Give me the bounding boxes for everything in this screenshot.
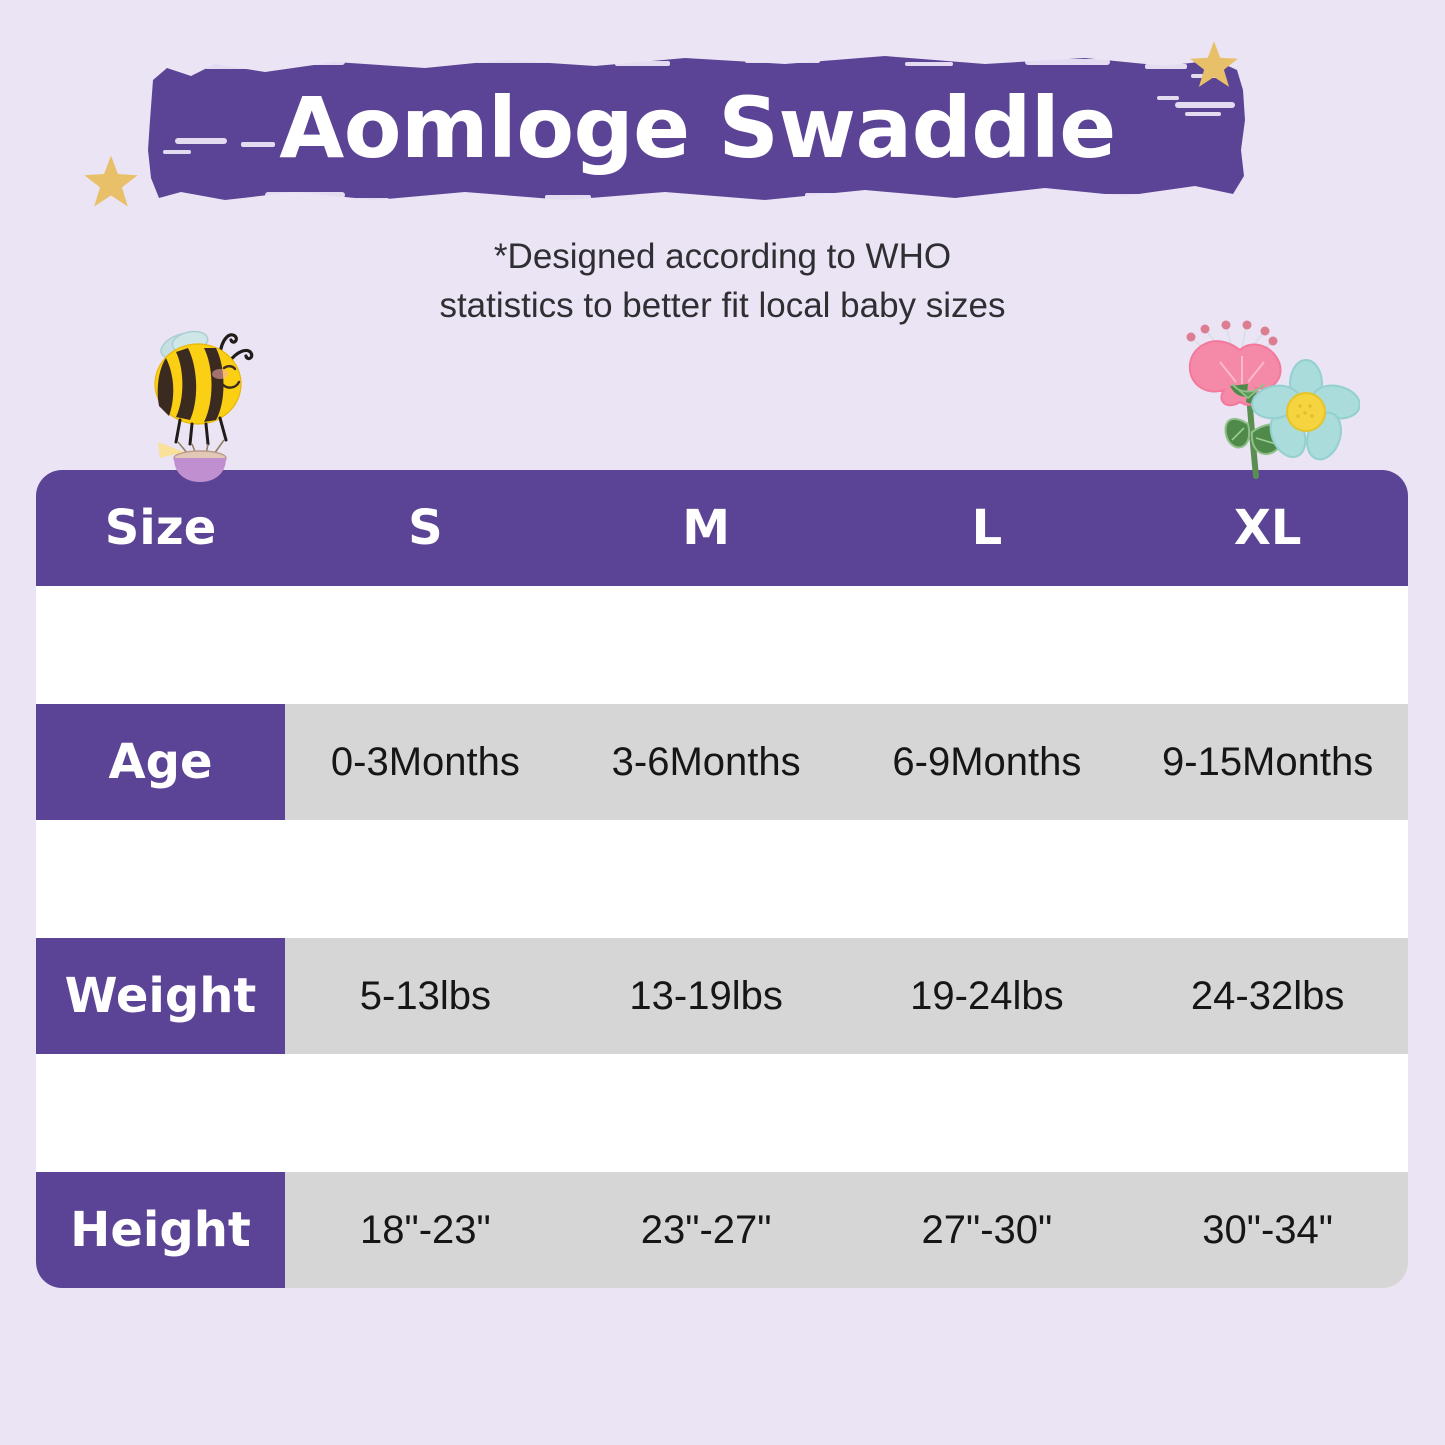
header-cell-size: Size — [36, 470, 285, 586]
cell-age-l: 6-9Months — [847, 704, 1128, 820]
cell-weight-l: 19-24lbs — [847, 938, 1128, 1054]
header-cell-xl: XL — [1127, 470, 1408, 586]
title-banner: Aomloge Swaddle — [145, 50, 1250, 210]
height-values-group: 18"-23" 23"-27" 27"-30" 30"-34" — [285, 1172, 1408, 1288]
cell-age-m: 3-6Months — [566, 704, 847, 820]
size-chart-table: Size S M L XL Age 0-3Months 3-6Months 6-… — [36, 470, 1408, 1294]
star-icon — [82, 152, 140, 210]
cell-height-l: 27"-30" — [847, 1172, 1128, 1288]
cell-weight-s: 5-13lbs — [285, 938, 566, 1054]
cell-age-xl: 9-15Months — [1127, 704, 1408, 820]
cell-weight-xl: 24-32lbs — [1127, 938, 1408, 1054]
row-label-height: Height — [36, 1172, 285, 1288]
subtitle-line-1: *Designed according to WHO — [0, 232, 1445, 281]
cell-height-xl: 30"-34" — [1127, 1172, 1408, 1288]
header-cell-l: L — [847, 470, 1128, 586]
table-row: Age 0-3Months 3-6Months 6-9Months 9-15Mo… — [36, 704, 1408, 820]
cell-height-s: 18"-23" — [285, 1172, 566, 1288]
row-label-weight: Weight — [36, 938, 285, 1054]
table-spacer-row — [36, 820, 1408, 938]
table-row: Weight 5-13lbs 13-19lbs 19-24lbs 24-32lb… — [36, 938, 1408, 1054]
size-chart-page: Aomloge Swaddle *Designed according to W… — [0, 0, 1445, 1445]
flower-icon — [1148, 306, 1360, 484]
table-row: Height 18"-23" 23"-27" 27"-30" 30"-34" — [36, 1172, 1408, 1288]
header-cell-m: M — [566, 470, 847, 586]
table-header-row: Size S M L XL — [36, 470, 1408, 586]
row-label-age: Age — [36, 704, 285, 820]
bee-icon — [136, 312, 264, 484]
cell-weight-m: 13-19lbs — [566, 938, 847, 1054]
cell-age-s: 0-3Months — [285, 704, 566, 820]
page-title: Aomloge Swaddle — [145, 50, 1250, 210]
table-spacer-row — [36, 586, 1408, 704]
cell-height-m: 23"-27" — [566, 1172, 847, 1288]
header-cell-s: S — [285, 470, 566, 586]
table-spacer-row — [36, 1054, 1408, 1172]
